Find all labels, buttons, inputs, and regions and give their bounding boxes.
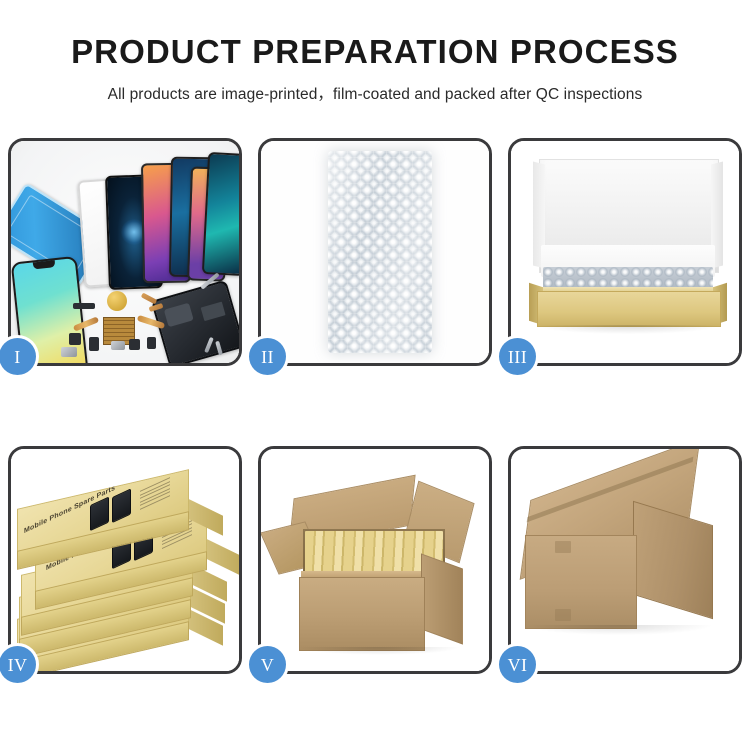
carton-right-side (421, 553, 463, 644)
phone-teal-wave (202, 152, 239, 276)
step-6-image (511, 449, 739, 671)
retail-box-stack: Mobile Phone Spare Parts Mobile Phone Sp… (17, 471, 237, 661)
step-5-image (261, 449, 489, 671)
spare-part-bracket (111, 341, 125, 350)
step-4-image: Mobile Phone Spare Parts Mobile Phone Sp… (11, 449, 239, 671)
spare-part-vibrator (129, 339, 140, 350)
carton-front-face (299, 577, 425, 651)
spare-part-shield (61, 347, 77, 357)
process-step-panel-4: Mobile Phone Spare Parts Mobile Phone Sp… (8, 446, 242, 674)
step-1-image (11, 141, 239, 363)
process-step-panel-3: III (508, 138, 742, 366)
process-step-panel-1: I (8, 138, 242, 366)
step-badge-4: IV (0, 646, 36, 683)
sealed-carton-front-face (525, 535, 637, 629)
spare-part-button (147, 337, 156, 349)
retail-box-label-spec-lines-1 (140, 477, 170, 512)
process-step-panel-2: II (258, 138, 492, 366)
bubble-wrap-sheen (328, 151, 432, 353)
spare-part-camera-module (69, 333, 81, 345)
step-2-image (261, 141, 489, 363)
bubble-wrapped-phone (328, 151, 432, 353)
step-badge-5: V (249, 646, 286, 683)
step-badge-2: II (249, 338, 286, 375)
spare-part-connector (73, 303, 95, 309)
step-badge-3: III (499, 338, 536, 375)
step-badge-6: VI (499, 646, 536, 683)
process-step-panel-5: V (258, 446, 492, 674)
process-step-grid: I II III (8, 138, 742, 674)
page-subtitle: All products are image-printed，film-coat… (0, 71, 750, 104)
step-badge-1: I (0, 338, 36, 375)
sealed-carton-hand-hole-bottom (555, 609, 571, 621)
spare-part-speaker-coil (107, 291, 127, 311)
page-title: PRODUCT PREPARATION PROCESS (0, 0, 750, 71)
step-3-image (511, 141, 739, 363)
spare-part-ic (89, 337, 99, 351)
process-step-panel-6: VI (508, 446, 742, 674)
mailer-box-front (537, 291, 721, 327)
retail-box-label-phone-image-b1 (112, 488, 131, 523)
mailer-drop-shadow (537, 325, 719, 334)
sealed-carton-drop-shadow (527, 625, 711, 635)
carton-drop-shadow (297, 647, 461, 655)
sealed-carton-hand-hole-top (555, 541, 571, 553)
header: PRODUCT PREPARATION PROCESS All products… (0, 0, 750, 104)
